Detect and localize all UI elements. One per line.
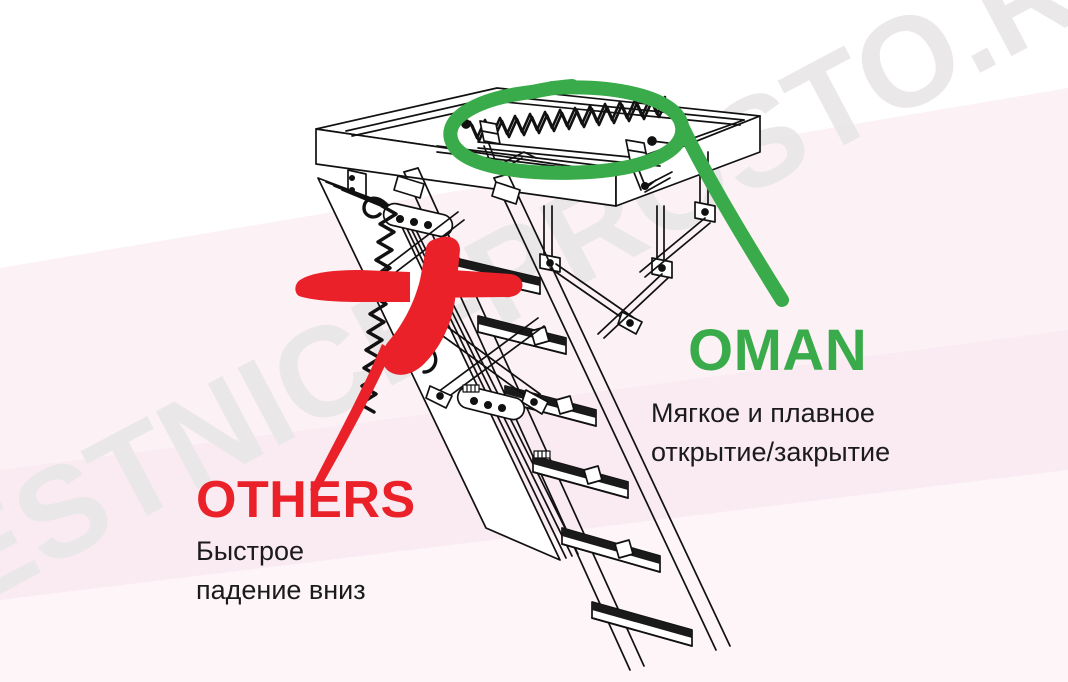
description-others-line-2: падение вниз — [196, 571, 366, 610]
description-oman-line-2: открытие/закрытие — [651, 433, 890, 472]
green-tail-line — [682, 126, 782, 300]
description-oman-line-1: Мягкое и плавное — [651, 394, 890, 433]
green-ellipse-loop — [450, 87, 682, 172]
green-ellipse-annotation — [0, 0, 1068, 682]
description-others-line-1: Быстрое — [196, 532, 366, 571]
description-others: Быстрое падение вниз — [196, 532, 366, 610]
description-oman: Мягкое и плавное открытие/закрытие — [651, 394, 890, 472]
brand-label-oman: OMAN — [688, 322, 867, 380]
brand-label-others: OTHERS — [196, 474, 416, 526]
illustration-canvas: LESTNICE-PROSTO.RU — [0, 0, 1068, 682]
green-ellipse-overshoot — [532, 86, 572, 92]
